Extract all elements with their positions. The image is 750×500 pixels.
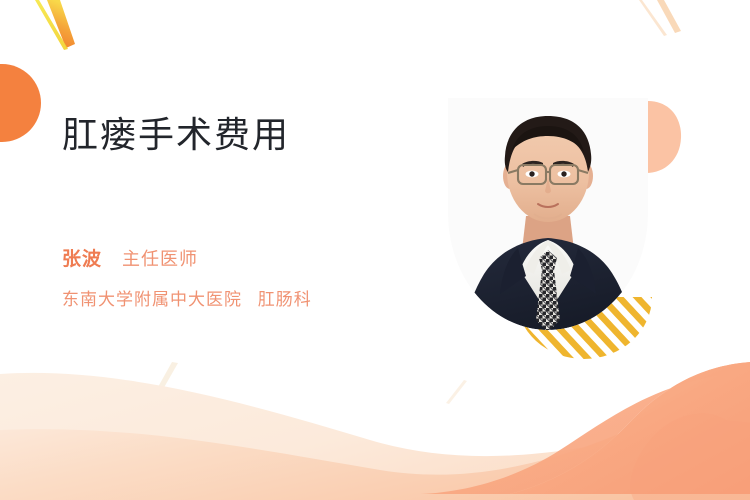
page-title: 肛瘘手术费用 [62,112,442,158]
doctor-identity-line: 张波 主任医师 [62,246,442,273]
hospital-name: 东南大学附属中大医院 [62,290,242,309]
streak-peach-top-right [639,0,681,36]
doctor-job-title: 主任医师 [122,249,198,269]
avatar [448,98,648,330]
department-name: 肛肠科 [258,290,312,309]
orange-circle-decor [0,64,41,142]
promo-card: 肛瘘手术费用 张波 主任医师 东南大学附属中大医院 肛肠科 [0,0,750,500]
info-text-block: 肛瘘手术费用 张波 主任医师 东南大学附属中大医院 肛肠科 [62,112,442,312]
doctor-portrait-photo [448,98,648,330]
doctor-name: 张波 [62,249,102,270]
doctor-affiliation-line: 东南大学附属中大医院 肛肠科 [62,287,442,312]
